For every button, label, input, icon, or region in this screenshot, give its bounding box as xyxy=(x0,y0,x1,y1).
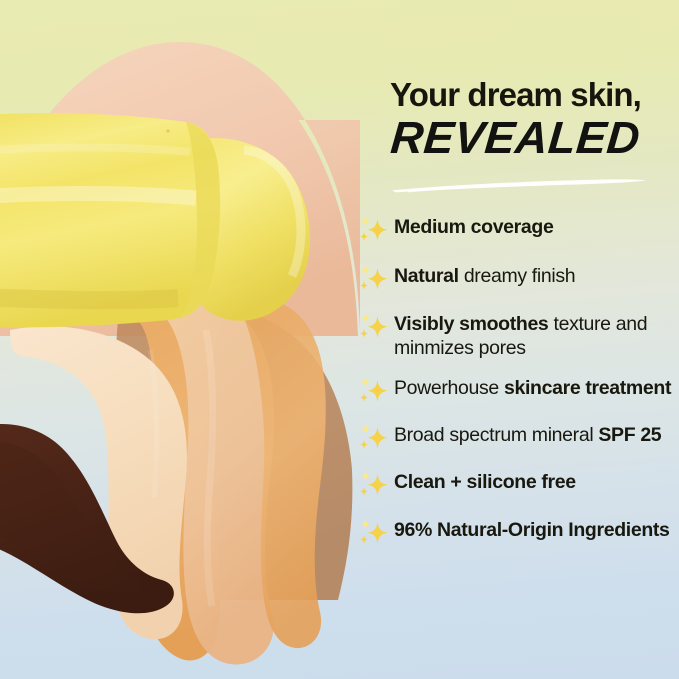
page-title: Your dream skin, REVEALED xyxy=(352,78,679,160)
sparkles-icon xyxy=(356,421,390,455)
feature-item: 96% Natural-Origin Ingredients xyxy=(356,515,679,550)
feature-item-label: Powerhouse skincare treatment xyxy=(394,373,679,401)
feature-text-part: Medium coverage xyxy=(394,216,553,238)
feature-item-label: Natural dreamy finish xyxy=(394,261,679,289)
brush-stroke-underline-icon xyxy=(390,178,648,194)
feature-text-part: Clean + silicone free xyxy=(394,471,576,493)
feature-item: Broad spectrum mineral SPF 25 xyxy=(356,420,679,455)
feature-item: Natural dreamy finish xyxy=(356,261,679,296)
feature-text-part: Broad spectrum mineral xyxy=(394,424,598,446)
sparkles-icon xyxy=(356,310,390,344)
feature-list: Medium coverageNatural dreamy finishVisi… xyxy=(356,212,679,550)
feature-item-label: Medium coverage xyxy=(394,212,679,240)
marketing-copy-panel: Your dream skin, REVEALED Medium coverag… xyxy=(352,0,679,679)
feature-item: Medium coverage xyxy=(356,212,679,247)
sparkles-icon xyxy=(356,262,390,296)
sparkles-icon xyxy=(356,468,390,502)
feature-text-part: dreamy finish xyxy=(464,265,575,287)
feature-text-part: SPF 25 xyxy=(598,424,661,446)
feature-item-label: Clean + silicone free xyxy=(394,467,679,495)
feature-item: Clean + silicone free xyxy=(356,467,679,502)
sparkles-icon xyxy=(356,213,390,247)
sparkles-icon xyxy=(356,374,390,408)
foundation-product-photo xyxy=(0,0,360,679)
feature-text-part: Visibly smoothes xyxy=(394,313,554,335)
feature-item-label: 96% Natural-Origin Ingredients xyxy=(394,515,679,543)
feature-item-label: Visibly smoothes texture and minmizes po… xyxy=(394,309,679,361)
feature-text-part: skincare treatment xyxy=(504,377,671,399)
headline-line-2: REVEALED xyxy=(350,115,679,160)
feature-item: Powerhouse skincare treatment xyxy=(356,373,679,408)
headline-line-1: Your dream skin, xyxy=(352,78,679,112)
feature-text-part: Powerhouse xyxy=(394,377,504,399)
sparkles-icon xyxy=(356,516,390,550)
feature-text-part: 96% Natural-Origin Ingredients xyxy=(394,519,670,541)
feature-text-part: Natural xyxy=(394,265,464,287)
feature-item: Visibly smoothes texture and minmizes po… xyxy=(356,309,679,361)
product-feature-graphic: Your dream skin, REVEALED Medium coverag… xyxy=(0,0,679,679)
feature-item-label: Broad spectrum mineral SPF 25 xyxy=(394,420,679,448)
